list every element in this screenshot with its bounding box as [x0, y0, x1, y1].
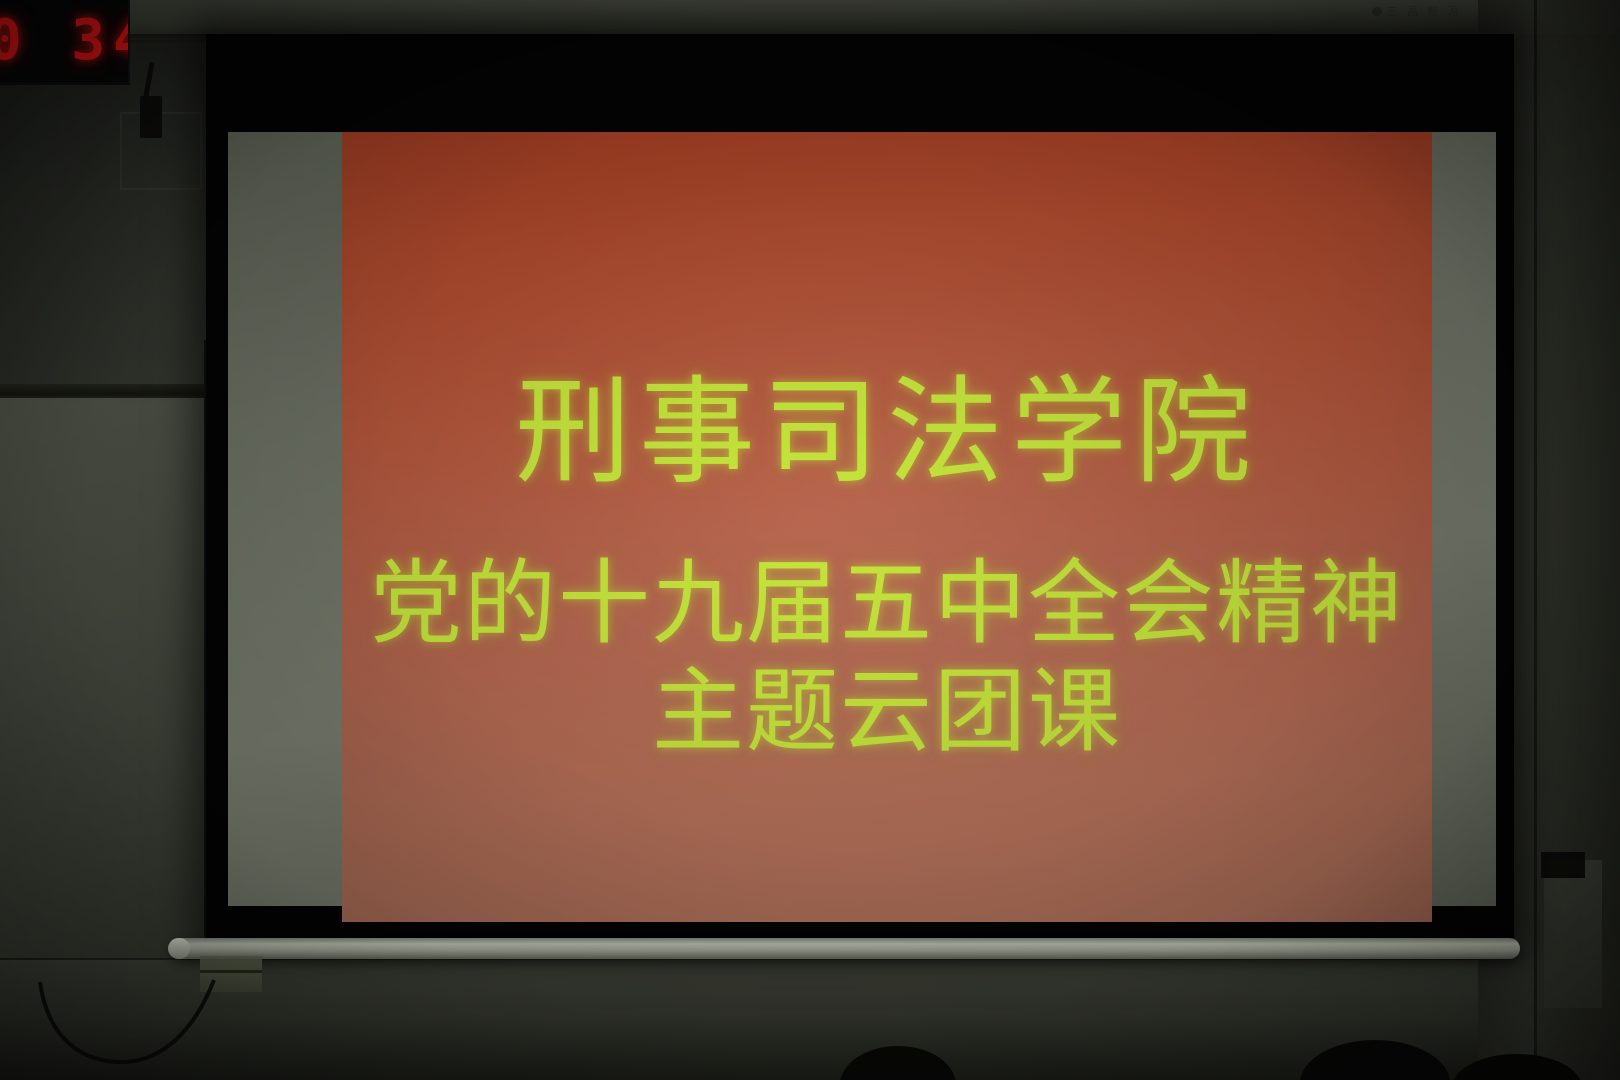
wall-label-text: 三 晶 智 源: [1387, 3, 1461, 19]
slide-subtitle-line-2: 主题云团课: [342, 658, 1432, 767]
left-whiteboard-panel: [0, 398, 210, 958]
wall-device-label: 三 晶 智 源: [1372, 2, 1464, 20]
classroom-scene: 0 34 三 晶 智 源 刑事司法学院 党的十九届五中全会精神 主题云团课: [0, 0, 1620, 1080]
slide-text-block: 刑事司法学院 党的十九届五中全会精神 主题云团课: [342, 368, 1432, 767]
projected-slide: 刑事司法学院 党的十九届五中全会精神 主题云团课: [342, 132, 1432, 922]
wall-fixture: [140, 96, 162, 138]
projection-screen-frame: 刑事司法学院 党的十九届五中全会精神 主题云团课: [206, 34, 1514, 942]
slide-subtitle-line-1: 党的十九届五中全会精神: [342, 550, 1432, 659]
led-clock: 0 34: [0, 0, 130, 85]
wall-label-dot-icon: [1372, 7, 1382, 16]
right-wall-panel: [1544, 860, 1602, 1008]
screen-roller-end-cap: [168, 938, 190, 959]
led-clock-digits: 0 34: [0, 13, 130, 69]
right-wall-bracket: [1541, 852, 1585, 878]
hanging-cable: [36, 978, 250, 1070]
slide-title: 刑事司法学院: [342, 368, 1432, 498]
projection-screen-surface: 刑事司法学院 党的十九届五中全会精神 主题云团课: [228, 132, 1496, 906]
screen-roller-bar: [170, 938, 1520, 959]
screen-wall-bracket-line: [200, 970, 262, 973]
right-wall-seam: [1534, 0, 1537, 1080]
